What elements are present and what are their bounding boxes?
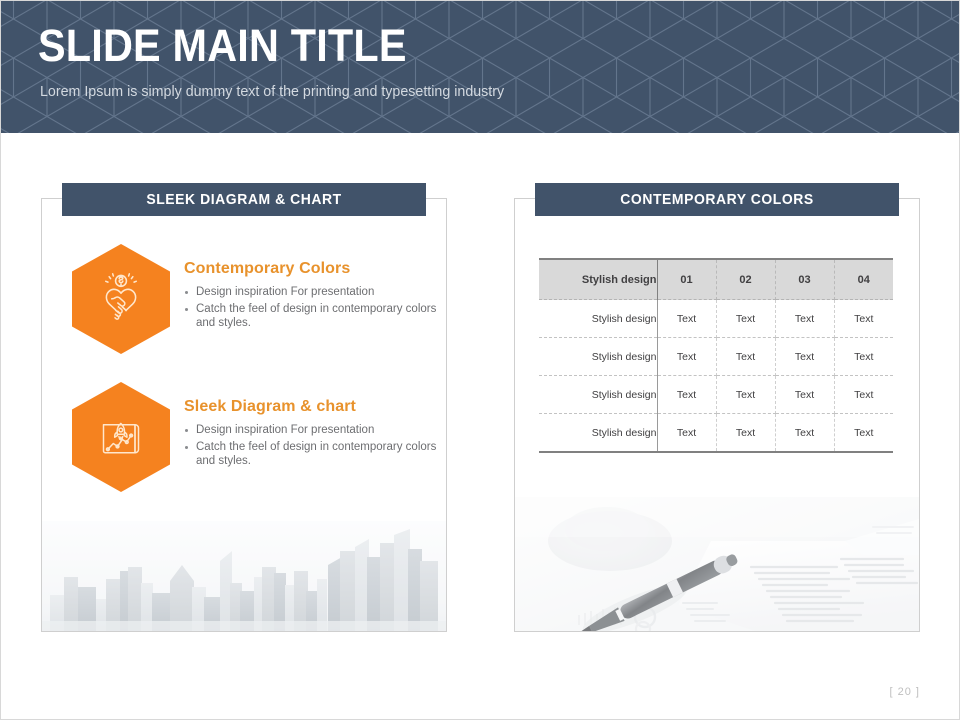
city-skyline-photo — [42, 521, 446, 631]
table-cell: Text — [716, 414, 775, 453]
bullet-item: Design inspiration For presentation — [184, 285, 440, 300]
table-row: Stylish design Text Text Text Text — [539, 414, 893, 453]
bullet-item: Catch the feel of design in contemporary… — [184, 302, 440, 331]
feature-text-block: Sleek Diagram & chart Design inspiration… — [184, 382, 440, 471]
left-panel-title-bar: SLEEK DIAGRAM & CHART — [62, 183, 426, 216]
page-title: SLIDE MAIN TITLE — [38, 20, 829, 72]
table-row: Stylish design Text Text Text Text — [539, 300, 893, 338]
table-row: Stylish design Text Text Text Text — [539, 338, 893, 376]
header-text-block: SLIDE MAIN TITLE Lorem Ipsum is simply d… — [38, 20, 898, 102]
feature-text-block: Contemporary Colors Design inspiration F… — [184, 244, 440, 333]
table-cell: Stylish design — [539, 414, 657, 453]
feature-bullet-list: Design inspiration For presentation Catc… — [184, 285, 440, 331]
handshake-heart-coin-icon — [92, 270, 150, 328]
table-cell: Stylish design — [539, 300, 657, 338]
table-cell: Text — [834, 376, 893, 414]
slide-header: SLIDE MAIN TITLE Lorem Ipsum is simply d… — [0, 0, 960, 133]
table-cell: Text — [716, 300, 775, 338]
slide-canvas: SLIDE MAIN TITLE Lorem Ipsum is simply d… — [0, 0, 960, 720]
table-row: Stylish design Text Text Text Text — [539, 376, 893, 414]
table-header-cell: 03 — [775, 259, 834, 300]
bullet-item: Design inspiration For presentation — [184, 423, 440, 438]
table-header-cell: 04 — [834, 259, 893, 300]
table-header-cell: 02 — [716, 259, 775, 300]
table-header-row: Stylish design 01 02 03 04 — [539, 259, 893, 300]
stylish-design-table: Stylish design 01 02 03 04 Stylish desig… — [539, 258, 893, 453]
table-header-cell: 01 — [657, 259, 716, 300]
feature-heading: Contemporary Colors — [184, 260, 440, 278]
page-number: [ 20 ] — [890, 686, 920, 698]
table-cell: Text — [775, 338, 834, 376]
rocket-chart-icon — [93, 409, 149, 465]
table-cell: Text — [716, 338, 775, 376]
table-cell: Text — [834, 338, 893, 376]
table-cell: Text — [775, 414, 834, 453]
feature-bullet-list: Design inspiration For presentation Catc… — [184, 423, 440, 469]
pen-on-documents-photo — [515, 497, 919, 631]
table-cell: Text — [657, 300, 716, 338]
table-cell: Text — [775, 300, 834, 338]
bullet-item: Catch the feel of design in contemporary… — [184, 440, 440, 469]
table-cell: Text — [775, 376, 834, 414]
left-panel-title: SLEEK DIAGRAM & CHART — [146, 191, 341, 208]
table-cell: Text — [716, 376, 775, 414]
feature-heading: Sleek Diagram & chart — [184, 398, 440, 416]
page-subtitle: Lorem Ipsum is simply dummy text of the … — [40, 82, 855, 102]
table-cell: Stylish design — [539, 376, 657, 414]
right-panel-title-bar: CONTEMPORARY COLORS — [535, 183, 899, 216]
table-cell: Stylish design — [539, 338, 657, 376]
table-cell: Text — [657, 376, 716, 414]
feature-item-sleek-diagram-chart[interactable]: Sleek Diagram & chart Design inspiration… — [72, 382, 440, 492]
hexagon-badge — [72, 244, 170, 354]
table-cell: Text — [657, 338, 716, 376]
table-cell: Text — [834, 414, 893, 453]
table-header-cell: Stylish design — [539, 259, 657, 300]
table-cell: Text — [834, 300, 893, 338]
table-cell: Text — [657, 414, 716, 453]
feature-item-contemporary-colors[interactable]: Contemporary Colors Design inspiration F… — [72, 244, 440, 354]
hexagon-badge — [72, 382, 170, 492]
right-panel-title: CONTEMPORARY COLORS — [620, 191, 814, 208]
